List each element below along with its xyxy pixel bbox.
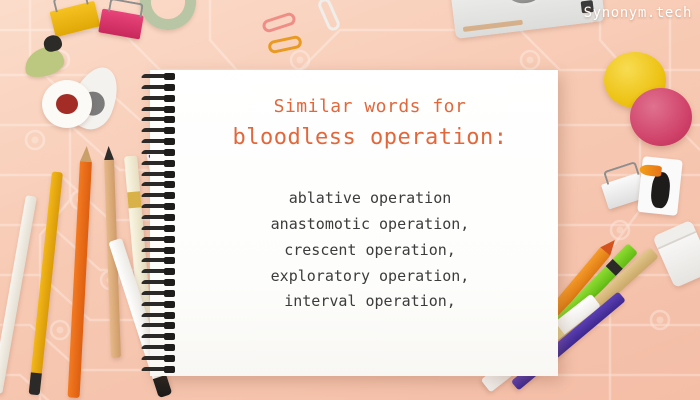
toucan-sticker xyxy=(637,156,683,216)
spiral-coil xyxy=(142,367,182,372)
spiral-coil xyxy=(142,150,182,155)
spiral-coil xyxy=(142,107,182,112)
spiral-coil xyxy=(142,117,182,122)
macaron-pink xyxy=(630,88,692,146)
list-item: crescent operation, xyxy=(271,238,470,264)
title-block: Similar words for bloodless operation: xyxy=(233,94,508,154)
spiral-coil xyxy=(142,269,182,274)
spiral-coil xyxy=(142,74,182,79)
spiral-coil xyxy=(142,313,182,318)
page-title-term: bloodless operation: xyxy=(233,121,508,154)
list-item: interval operation, xyxy=(271,289,470,315)
spiral-coil xyxy=(142,280,182,285)
spiral-coil xyxy=(142,323,182,328)
egg-yolk-red xyxy=(56,94,78,114)
spiral-coil xyxy=(142,334,182,339)
spiral-coil xyxy=(142,248,182,253)
spiral-coil xyxy=(142,237,182,242)
spiral-coil xyxy=(142,128,182,133)
list-item: exploratory operation, xyxy=(271,264,470,290)
spiral-coil xyxy=(142,345,182,350)
pencil-tip xyxy=(29,372,42,395)
egg-eraser-front xyxy=(42,80,92,128)
toucan-beak xyxy=(639,164,662,177)
pen-band xyxy=(127,191,141,208)
spiral-coil xyxy=(142,85,182,90)
synonym-list: ablative operation anastomotic operation… xyxy=(271,186,470,315)
spiral-coil xyxy=(142,258,182,263)
notebook: Similar words for bloodless operation: a… xyxy=(150,70,558,376)
list-item: ablative operation xyxy=(271,186,470,212)
spiral-coil xyxy=(142,161,182,166)
page-content: Similar words for bloodless operation: a… xyxy=(196,70,544,376)
page-title-prefix: Similar words for xyxy=(233,94,508,119)
clip-arm xyxy=(52,0,88,12)
spiral-coil xyxy=(142,215,182,220)
spiral-coil xyxy=(142,193,182,198)
spiral-coil xyxy=(142,96,182,101)
camera-lens xyxy=(495,0,553,9)
spiral-binding xyxy=(142,74,186,372)
camera-strip xyxy=(463,20,523,32)
spiral-coil xyxy=(142,182,182,187)
clip-arm xyxy=(108,0,144,17)
spiral-coil xyxy=(142,139,182,144)
spiral-coil xyxy=(142,172,182,177)
spiral-coil xyxy=(142,302,182,307)
spiral-coil xyxy=(142,356,182,361)
spiral-coil xyxy=(142,291,182,296)
site-watermark: Synonym.tech xyxy=(584,5,692,21)
toucan-body xyxy=(650,171,672,209)
spiral-coil xyxy=(142,226,182,231)
list-item: anastomotic operation, xyxy=(271,212,470,238)
spiral-coil xyxy=(142,204,182,209)
